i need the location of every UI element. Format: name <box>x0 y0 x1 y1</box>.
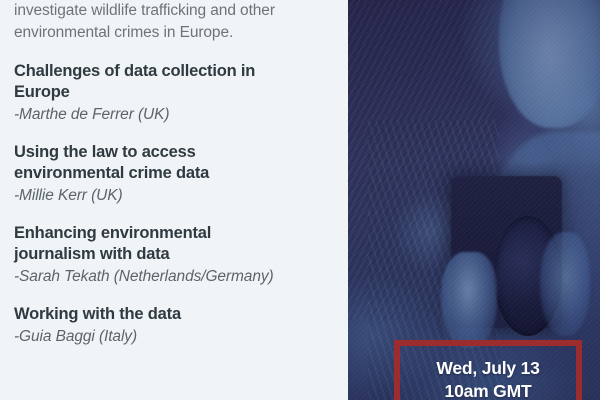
date-badge: Wed, July 13 10am GMT <box>394 340 582 400</box>
session-item: Using the law to access environmental cr… <box>14 142 340 206</box>
date-badge-line-2: 10am GMT <box>400 380 576 400</box>
session-title-line-1: Challenges of data collection in <box>14 61 340 82</box>
session-title: Working with the data <box>14 304 340 325</box>
session-title-line-2: journalism with data <box>14 244 340 265</box>
session-title-line-2: environmental crime data <box>14 163 340 184</box>
session-item: Enhancing environmental journalism with … <box>14 223 340 287</box>
intro-line-1: investigate wildlife trafficking and oth… <box>14 0 340 22</box>
session-title-line-2: Europe <box>14 82 340 103</box>
photo-panel: Wed, July 13 10am GMT <box>348 0 600 400</box>
session-title: Enhancing environmental journalism with … <box>14 223 340 265</box>
session-byline: -Marthe de Ferrer (UK) <box>14 105 340 125</box>
session-title: Challenges of data collection in Europe <box>14 61 340 103</box>
date-badge-line-1: Wed, July 13 <box>400 357 576 380</box>
session-item: Challenges of data collection in Europe … <box>14 61 340 125</box>
date-badge-text: Wed, July 13 10am GMT <box>400 357 576 400</box>
intro-line-2: environmental crimes in Europe. <box>14 22 340 44</box>
session-title-line-1: Using the law to access <box>14 142 340 163</box>
session-list-panel: investigate wildlife trafficking and oth… <box>0 0 348 400</box>
session-byline: -Millie Kerr (UK) <box>14 186 340 206</box>
session-item: Working with the data -Guia Baggi (Italy… <box>14 304 340 347</box>
webinar-poster: investigate wildlife trafficking and oth… <box>0 0 600 400</box>
session-byline: -Guia Baggi (Italy) <box>14 327 340 347</box>
intro-paragraph: investigate wildlife trafficking and oth… <box>14 0 340 44</box>
session-byline: -Sarah Tekath (Netherlands/Germany) <box>14 267 340 287</box>
session-title-line-1: Working with the data <box>14 304 340 325</box>
session-title-line-1: Enhancing environmental <box>14 223 340 244</box>
session-title: Using the law to access environmental cr… <box>14 142 340 184</box>
